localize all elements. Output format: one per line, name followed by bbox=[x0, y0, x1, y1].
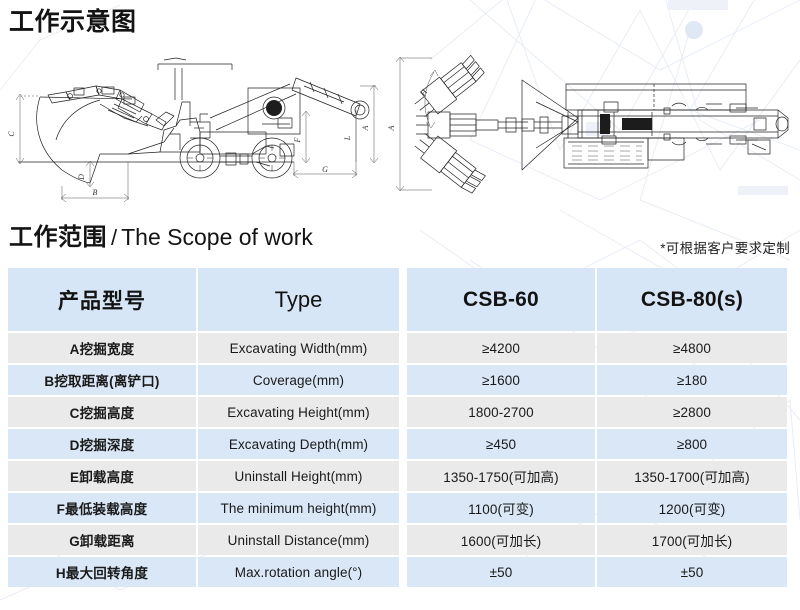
row-label-cn: F最低装载高度 bbox=[8, 493, 196, 523]
table-header-row: 产品型号 Type CSB-60 CSB-80(s) bbox=[8, 268, 791, 331]
svg-text:H: H bbox=[418, 87, 430, 99]
row-label-cn: C挖掘高度 bbox=[8, 397, 196, 427]
row-value-csb80: 1350-1700(可加高) bbox=[597, 461, 787, 491]
row-label-cn: A挖掘宽度 bbox=[8, 333, 196, 363]
table-row: E卸载高度 Uninstall Height(mm) 1350-1750(可加高… bbox=[8, 461, 791, 491]
row-label-en: Coverage(mm) bbox=[198, 365, 399, 395]
table-row: B挖取距离(离铲口) Coverage(mm) ≥1600 ≥180 bbox=[8, 365, 791, 395]
table-row: F最低装载高度 The minimum height(mm) 1100(可变) … bbox=[8, 493, 791, 523]
side-view-loader-diagram: C D B F G L A bbox=[4, 42, 382, 207]
svg-text:L: L bbox=[343, 135, 352, 141]
row-label-en: Max.rotation angle(°) bbox=[198, 557, 399, 587]
row-value-csb80: ±50 bbox=[597, 557, 787, 587]
top-view-loader-diagram: A H bbox=[386, 42, 796, 207]
row-label-en: Uninstall Height(mm) bbox=[198, 461, 399, 491]
scope-heading-cn: 工作范围 bbox=[9, 224, 107, 251]
scope-heading-separator: / bbox=[107, 225, 121, 250]
row-label-cn: D挖掘深度 bbox=[8, 429, 196, 459]
row-value-csb80: ≥180 bbox=[597, 365, 787, 395]
table-row: H最大回转角度 Max.rotation angle(°) ±50 ±50 bbox=[8, 557, 791, 587]
scope-heading: 工作范围/The Scope of work bbox=[9, 221, 313, 257]
column-header-type: Type bbox=[198, 268, 399, 331]
specification-table: 产品型号 Type CSB-60 CSB-80(s) A挖掘宽度 Excavat… bbox=[8, 268, 791, 589]
svg-text:B: B bbox=[93, 188, 98, 197]
row-value-csb80: 1700(可加长) bbox=[597, 525, 787, 555]
svg-text:F: F bbox=[293, 137, 302, 143]
row-label-cn: B挖取距离(离铲口) bbox=[8, 365, 196, 395]
table-row: A挖掘宽度 Excavating Width(mm) ≥4200 ≥4800 bbox=[8, 333, 791, 363]
row-value-csb60: 1100(可变) bbox=[407, 493, 595, 523]
page-title: 工作示意图 bbox=[9, 6, 137, 38]
row-label-en: The minimum height(mm) bbox=[198, 493, 399, 523]
svg-text:D: D bbox=[77, 174, 86, 181]
column-header-csb60: CSB-60 bbox=[407, 268, 595, 331]
row-value-csb80: ≥800 bbox=[597, 429, 787, 459]
svg-text:C: C bbox=[7, 131, 16, 137]
svg-text:A: A bbox=[361, 125, 370, 131]
row-value-csb60: ≥450 bbox=[407, 429, 595, 459]
row-value-csb80: ≥2800 bbox=[597, 397, 787, 427]
row-label-en: Uninstall Distance(mm) bbox=[198, 525, 399, 555]
row-value-csb60: 1600(可加长) bbox=[407, 525, 595, 555]
scope-heading-en: The Scope of work bbox=[121, 224, 313, 250]
row-value-csb60: 1800-2700 bbox=[407, 397, 595, 427]
row-value-csb80: ≥4800 bbox=[597, 333, 787, 363]
row-label-cn: H最大回转角度 bbox=[8, 557, 196, 587]
row-label-cn: G卸载距离 bbox=[8, 525, 196, 555]
table-row: D挖掘深度 Excavating Depth(mm) ≥450 ≥800 bbox=[8, 429, 791, 459]
customization-note: *可根据客户要求定制 bbox=[660, 237, 790, 257]
page-root: 工作示意图 bbox=[0, 0, 800, 610]
column-header-csb80: CSB-80(s) bbox=[597, 268, 787, 331]
row-value-csb60: ±50 bbox=[407, 557, 595, 587]
table-row: G卸载距离 Uninstall Distance(mm) 1600(可加长) 1… bbox=[8, 525, 791, 555]
table-row: C挖掘高度 Excavating Height(mm) 1800-2700 ≥2… bbox=[8, 397, 791, 427]
row-label-cn: E卸载高度 bbox=[8, 461, 196, 491]
row-label-en: Excavating Depth(mm) bbox=[198, 429, 399, 459]
row-value-csb80: 1200(可变) bbox=[597, 493, 787, 523]
column-header-model: 产品型号 bbox=[8, 268, 196, 331]
row-value-csb60: 1350-1750(可加高) bbox=[407, 461, 595, 491]
row-value-csb60: ≥1600 bbox=[407, 365, 595, 395]
svg-text:G: G bbox=[322, 165, 328, 174]
row-label-en: Excavating Width(mm) bbox=[198, 333, 399, 363]
row-label-en: Excavating Height(mm) bbox=[198, 397, 399, 427]
row-value-csb60: ≥4200 bbox=[407, 333, 595, 363]
svg-text:A: A bbox=[387, 125, 396, 131]
